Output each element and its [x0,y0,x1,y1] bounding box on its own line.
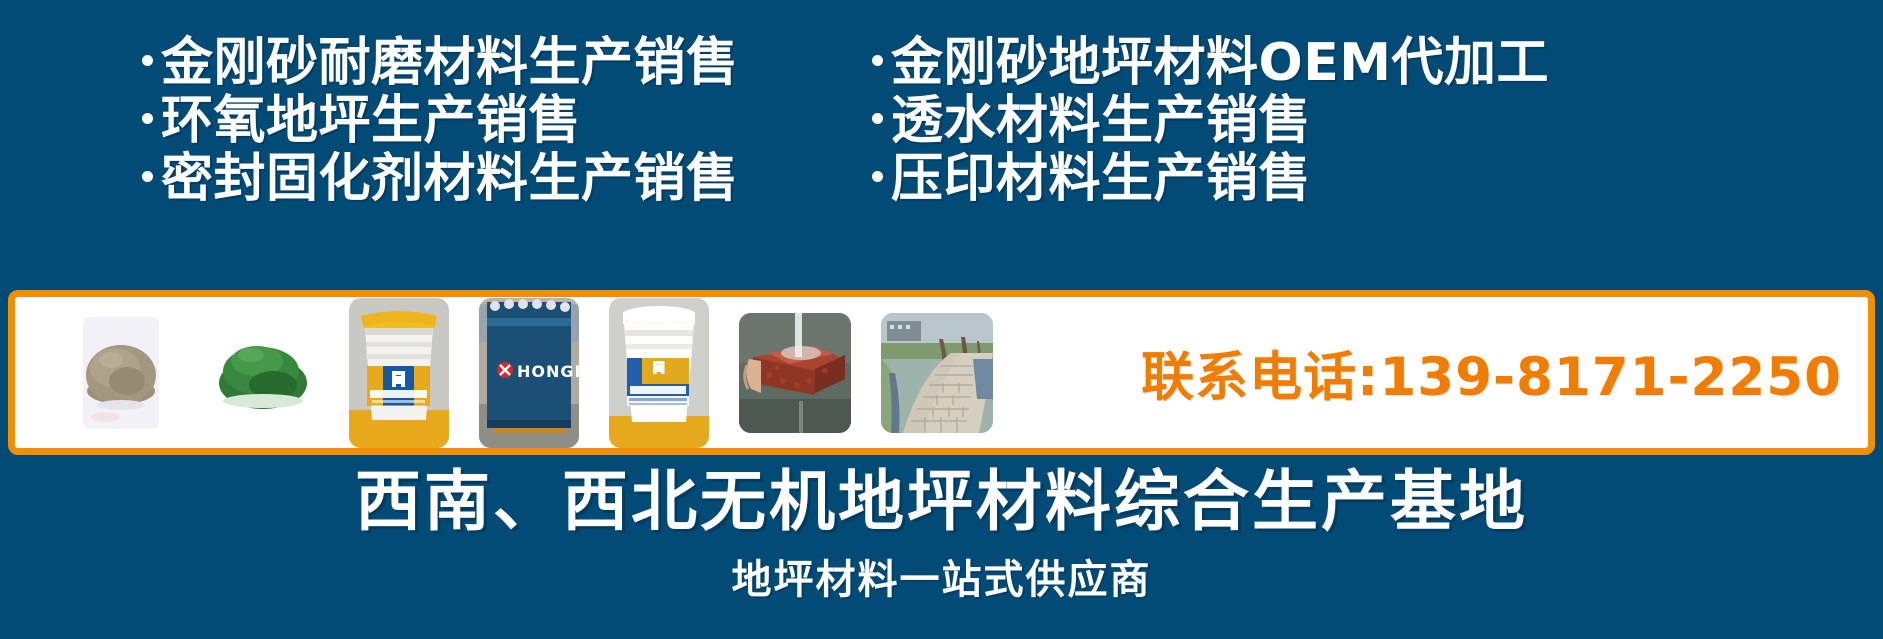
page-title: 西南、西北无机地坪材料综合生产基地 [0,464,1883,540]
epoxy-pail-icon [609,298,709,448]
bullet-dot-icon [142,55,153,66]
advertisement-banner: 金刚砂耐磨材料生产销售 环氧地坪生产销售 密封固化剂材料生产销售 金刚砂地坪材料… [0,0,1883,639]
product-thumb-gray-powder-pile [65,313,177,433]
product-thumb-white-pail-sealer [349,298,449,448]
gray-powder-pile-icon [65,313,177,433]
feature-item: 密封固化剂材料生产销售 [142,150,860,208]
feature-label: 环氧地坪生产销售 [161,92,581,150]
feature-column-right: 金刚砂地坪材料OEM代加工 透水材料生产销售 压印材料生产销售 [860,34,1883,259]
bullet-dot-icon [872,113,883,124]
bullet-dot-icon [872,171,883,182]
green-powder-pile-icon [207,313,319,433]
feature-item: 金刚砂地坪材料OEM代加工 [872,34,1883,92]
permeable-concrete-icon [739,313,851,433]
product-thumb-blue-steel-drum: HONGMA [479,298,579,448]
feature-label: 压印材料生产销售 [891,150,1311,208]
feature-column-left: 金刚砂耐磨材料生产销售 环氧地坪生产销售 密封固化剂材料生产销售 [0,34,860,259]
product-thumb-stamped-concrete-path [881,313,993,433]
feature-label: 透水材料生产销售 [891,92,1311,150]
feature-item: 金刚砂耐磨材料生产销售 [142,34,860,92]
feature-label: 密封固化剂材料生产销售 [161,150,739,208]
hongma-drum-icon: HONGMA [479,298,579,448]
stamped-concrete-path-icon [881,313,993,433]
product-thumb-green-powder-pile [207,313,319,433]
product-thumbnail-list: HONGMA [15,297,1023,448]
product-strip: HONGMA [8,290,1875,455]
feature-label: 金刚砂地坪材料OEM代加工 [891,34,1549,92]
contact-phone-text: 联系电话:139-8171-2250 [1141,335,1842,411]
feature-label: 金刚砂耐磨材料生产销售 [161,34,739,92]
product-thumb-white-pail-epoxy [609,298,709,448]
sealer-pail-icon [349,298,449,448]
feature-item: 压印材料生产销售 [872,150,1883,208]
svg-text:HONGMA: HONGMA [517,362,579,381]
feature-item: 透水材料生产销售 [872,92,1883,150]
page-subtitle: 地坪材料一站式供应商 [0,556,1883,604]
bullet-dot-icon [142,113,153,124]
product-thumb-permeable-concrete-slab [739,313,851,433]
contact-phone-block[interactable]: 联系电话:139-8171-2250 [1141,335,1842,411]
bullet-dot-icon [872,55,883,66]
feature-item: 环氧地坪生产销售 [142,92,860,150]
bullet-dot-icon [142,171,153,182]
feature-lists: 金刚砂耐磨材料生产销售 环氧地坪生产销售 密封固化剂材料生产销售 金刚砂地坪材料… [0,34,1883,259]
